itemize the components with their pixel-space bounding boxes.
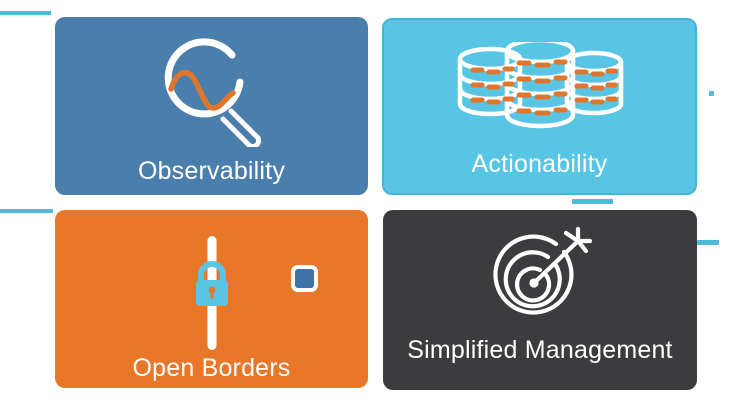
blue-square-indicator [291, 265, 318, 292]
padlock-on-bar-icon [55, 222, 368, 350]
card-simplified-management[interactable]: Simplified Management [383, 210, 697, 390]
card-open-borders[interactable]: Open Borders [55, 210, 368, 388]
card-label-actionability: Actionability [472, 152, 608, 177]
magnifying-glass-waveform-icon [153, 35, 271, 147]
accent-dot-right-upper [709, 91, 714, 96]
card-label-open-borders: Open Borders [132, 356, 290, 381]
card-actionability[interactable]: Actionability [382, 18, 697, 195]
database-stack-icon [451, 42, 629, 134]
card-observability[interactable]: Observability [55, 17, 368, 195]
feature-card-grid: Observability [0, 0, 750, 400]
accent-line-bottom-left [0, 209, 53, 213]
accent-line-right-lower [697, 240, 719, 245]
accent-line-top-left [0, 11, 51, 15]
card-label-simplified-management: Simplified Management [407, 338, 672, 363]
card-label-observability: Observability [138, 159, 285, 184]
target-arrow-icon [486, 226, 594, 330]
accent-line-mid-center [572, 199, 613, 204]
